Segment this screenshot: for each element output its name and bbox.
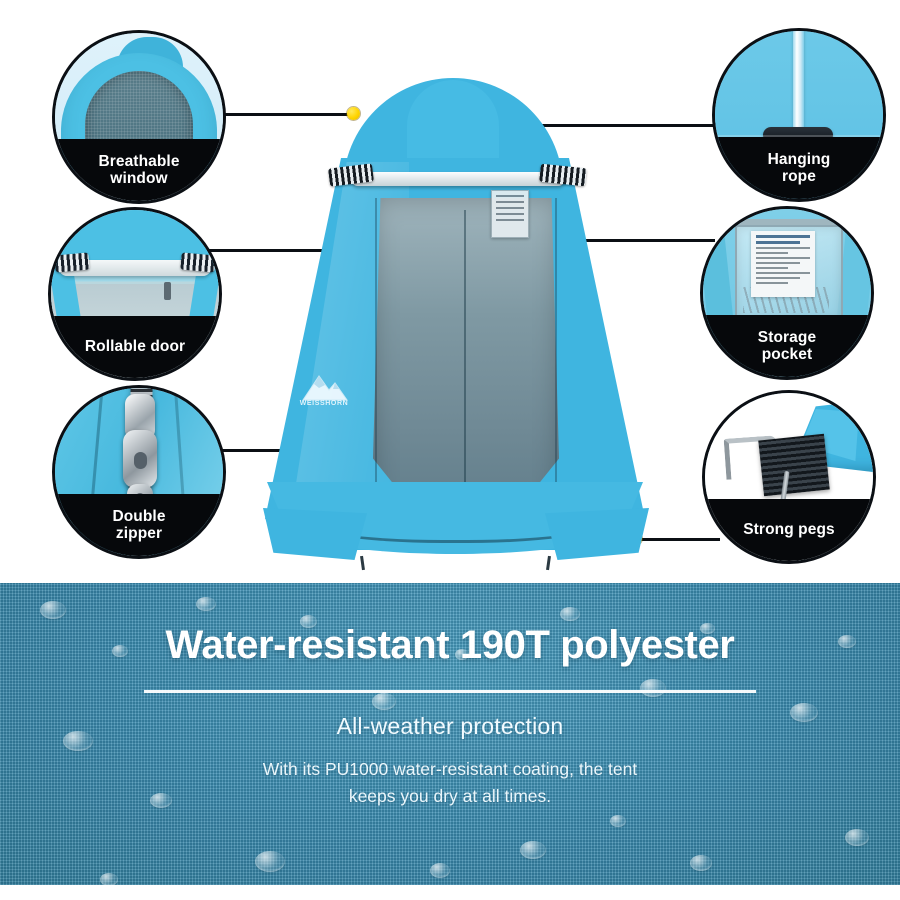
callout-label-line2: window [104,170,173,187]
callout-label-line2: zipper [110,525,168,542]
callout-label-line1: Storage [752,329,822,346]
callout-label-rollable-door: Rollable door [51,316,219,378]
callout-double-zipper[interactable]: Double zipper [52,385,226,559]
tent-rolled-door [351,172,565,186]
callout-label-strong-pegs: Strong pegs [705,499,873,561]
mountain-icon [289,370,359,402]
callout-label-line1: Hanging [762,151,837,168]
banner-description-line1: With its PU1000 water-resistant coating,… [263,756,637,783]
product-infographic: WEISSHORN Breathable window Ro [0,0,900,900]
callout-storage-pocket[interactable]: Storage pocket [700,206,874,380]
callout-breathable-window[interactable]: Breathable window [52,30,226,204]
tent-interior [373,198,559,532]
tent-product-illustration: WEISSHORN [255,78,655,563]
banner-description: With its PU1000 water-resistant coating,… [263,756,637,810]
callout-label-line1: Strong pegs [737,521,841,538]
callout-label-line2: pocket [756,346,819,363]
tent-ground-peg-right [546,556,551,570]
brand-logo-text: WEISSHORN [289,400,359,407]
callout-strong-pegs[interactable]: Strong pegs [702,390,876,564]
water-resistant-banner: Water-resistant 190T polyester All-weath… [0,583,900,885]
brand-logo: WEISSHORN [289,370,359,416]
tent-door-center-seam [464,210,466,510]
banner-text-block: Water-resistant 190T polyester All-weath… [0,583,900,885]
banner-subtitle: All-weather protection [337,713,564,740]
callout-label-line1: Rollable door [79,338,191,355]
banner-description-line2: keeps you dry at all times. [263,783,637,810]
callout-label-double-zipper: Double zipper [55,494,223,556]
callout-label-line2: rope [776,168,822,185]
tent-storage-pocket [491,190,529,238]
tent-ground-peg-left [360,556,365,570]
callout-label-breathable-window: Breathable window [55,139,223,201]
callout-label-line1: Double [106,508,171,525]
banner-divider [144,690,756,693]
tent-seam-left [375,198,377,528]
tent-seam-right [555,198,557,528]
callout-label-hanging-rope: Hanging rope [715,137,883,199]
callout-label-line1: Breathable [92,153,185,170]
tent-foot-left [263,508,367,560]
callout-rollable-door[interactable]: Rollable door [48,207,222,381]
banner-title: Water-resistant 190T polyester [166,623,735,668]
tent-foot-right [545,508,649,560]
feature-callout-panel: WEISSHORN Breathable window Ro [0,0,900,583]
callout-label-storage-pocket: Storage pocket [703,315,871,377]
callout-hanging-rope[interactable]: Hanging rope [712,28,886,202]
